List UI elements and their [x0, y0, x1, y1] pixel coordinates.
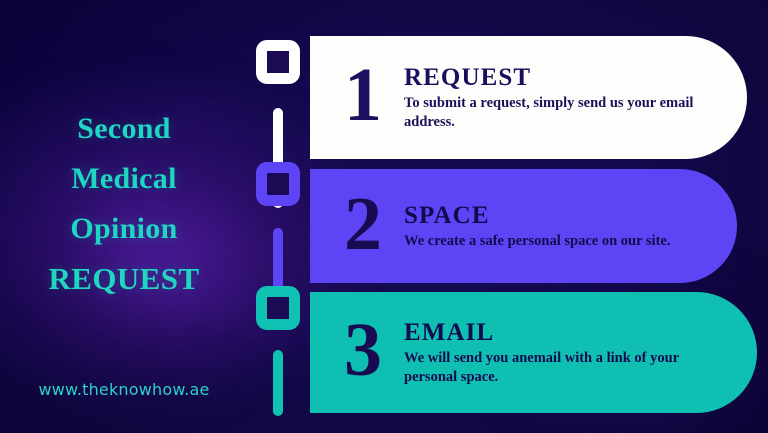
- timeline-node-3-icon: [256, 286, 300, 330]
- timeline-connector-3: [273, 350, 283, 416]
- step-3-title: EMAIL: [404, 319, 727, 346]
- step-2-description: We create a safe personal space on our s…: [404, 232, 707, 251]
- infographic-poster: Second Medical Opinion REQUEST www.thekn…: [0, 0, 768, 433]
- step-2-body: SPACE We create a safe personal space on…: [400, 202, 737, 251]
- headline-line-3: Opinion: [0, 204, 248, 254]
- step-2-number: 2: [310, 192, 400, 261]
- headline-line-2: Medical: [0, 154, 248, 204]
- headline-line-4: REQUEST: [0, 254, 248, 304]
- headline-line-1: Second: [0, 104, 248, 154]
- timeline-node-1-center: [267, 51, 289, 73]
- step-1-body: REQUEST To submit a request, simply send…: [400, 64, 747, 132]
- timeline-node-2-icon: [256, 162, 300, 206]
- step-2-title: SPACE: [404, 202, 707, 229]
- step-card-2: 2 SPACE We create a safe personal space …: [310, 169, 737, 283]
- step-3-body: EMAIL We will send you anemail with a li…: [400, 319, 757, 387]
- poster-headline: Second Medical Opinion REQUEST: [0, 104, 248, 304]
- step-1-title: REQUEST: [404, 64, 717, 91]
- step-3-number: 3: [310, 318, 400, 387]
- website-url: www.theknowhow.ae: [0, 380, 248, 399]
- timeline-node-1-icon: [256, 40, 300, 84]
- step-card-1: 1 REQUEST To submit a request, simply se…: [310, 36, 747, 159]
- timeline-rail: [252, 34, 304, 424]
- step-card-3: 3 EMAIL We will send you anemail with a …: [310, 292, 757, 413]
- step-3-description: We will send you anemail with a link of …: [404, 349, 704, 387]
- timeline-node-2-center: [267, 173, 289, 195]
- step-1-description: To submit a request, simply send us your…: [404, 94, 704, 132]
- timeline-node-3-center: [267, 297, 289, 319]
- step-1-number: 1: [310, 63, 400, 132]
